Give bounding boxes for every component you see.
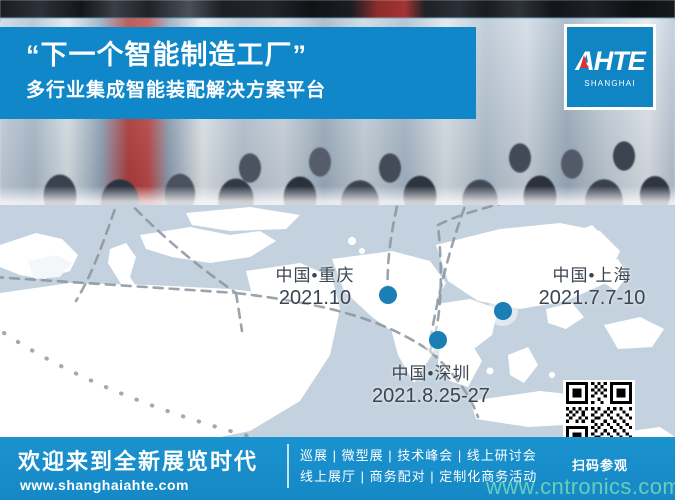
site-watermark: www.cntronics.com bbox=[486, 474, 675, 500]
city-dot-chongqing[interactable] bbox=[379, 286, 397, 304]
ahte-logo: AHTE SHANGHAI bbox=[564, 24, 656, 110]
ahte-logo-wordmark: AHTE bbox=[575, 47, 645, 75]
footer-website-link[interactable]: www.shanghaiahte.com bbox=[20, 477, 189, 493]
city-label-shenzhen: 中国•深圳 2021.8.25-27 bbox=[348, 363, 514, 409]
city-date-shanghai: 2021.7.7-10 bbox=[516, 286, 668, 311]
city-label-shanghai: 中国•上海 2021.7.7-10 bbox=[516, 265, 668, 311]
footer-welcome-text: 欢迎来到全新展览时代 bbox=[18, 444, 258, 476]
city-dot-shanghai[interactable] bbox=[494, 302, 512, 320]
city-label-chongqing: 中国•重庆 2021.10 bbox=[250, 265, 380, 311]
city-name-shenzhen: 中国•深圳 bbox=[348, 363, 514, 384]
qr-caption: 扫码参观 bbox=[556, 455, 644, 474]
logo-red-triangle-icon bbox=[580, 55, 588, 68]
city-name-shanghai: 中国•上海 bbox=[516, 265, 668, 286]
poster-subtitle: 多行业集成智能装配解决方案平台 bbox=[26, 75, 476, 107]
city-dot-shenzhen[interactable] bbox=[429, 331, 447, 349]
city-date-chongqing: 2021.10 bbox=[250, 286, 380, 311]
exhibition-poster: “下一个智能制造工厂” 多行业集成智能装配解决方案平台 AHTE SHANGHA… bbox=[0, 0, 675, 500]
title-band: “下一个智能制造工厂” 多行业集成智能装配解决方案平台 bbox=[0, 27, 476, 119]
footer-services-line-1: 巡展 | 微型展 | 技术峰会 | 线上研讨会 bbox=[300, 445, 537, 466]
city-date-shenzhen: 2021.8.25-27 bbox=[348, 384, 514, 409]
ahte-logo-city: SHANGHAI bbox=[584, 79, 635, 88]
city-name-chongqing: 中国•重庆 bbox=[250, 265, 380, 286]
footer-divider bbox=[287, 444, 289, 488]
poster-title: “下一个智能制造工厂” bbox=[26, 35, 476, 75]
